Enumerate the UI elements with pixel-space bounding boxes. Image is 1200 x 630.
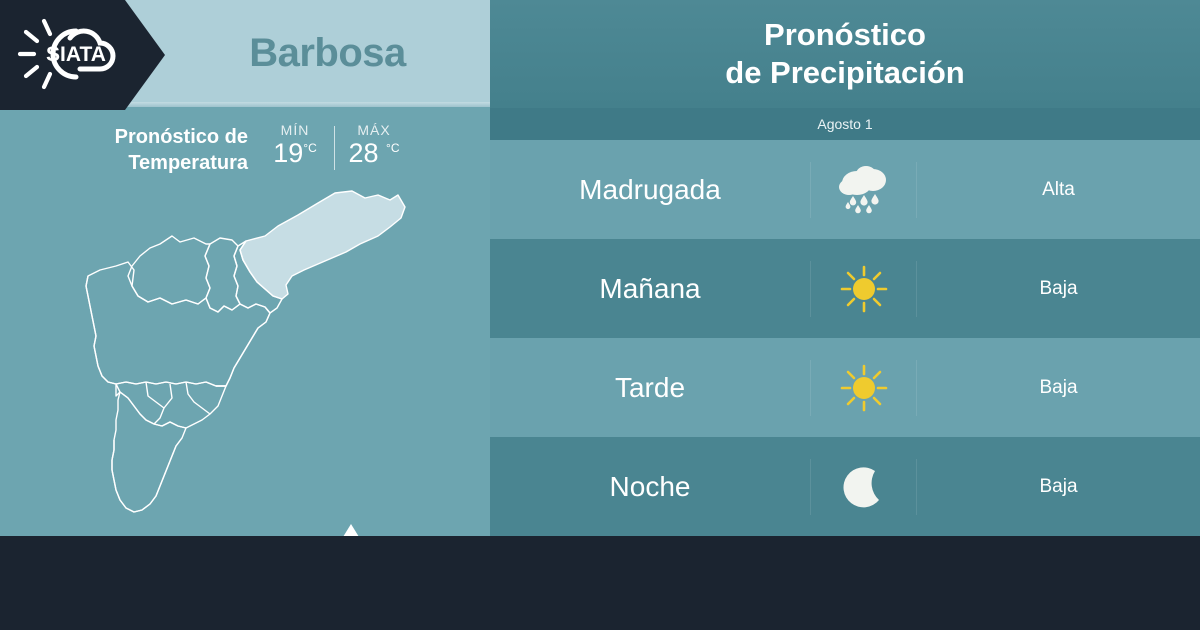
temperature-min-caption: MÍN (281, 122, 310, 138)
map-inner-line-3 (146, 382, 164, 424)
temperature-block: Pronóstico de Temperatura MÍN 19°C MÁX 2… (60, 122, 460, 184)
rain-cloud-icon (833, 162, 895, 218)
sun-cloud-icon: SIATA (14, 14, 138, 94)
row-time-label: Madrugada (490, 174, 810, 206)
map-inner-line-4 (164, 384, 172, 408)
weather-forecast-poster: SIATA Barbosa Pronóstico de Temperatura … (0, 0, 1200, 630)
map-west-boundary (86, 276, 116, 384)
row-weather-icon-cell (810, 459, 917, 515)
row-time-label: Tarde (490, 372, 810, 404)
row-weather-icon-cell (810, 261, 917, 317)
temperature-min: MÍN 19°C (264, 122, 326, 167)
row-weather-icon-cell (810, 162, 917, 218)
row-probability: Alta (917, 179, 1200, 201)
map-region-copacabana (205, 238, 240, 312)
row-time-label: Noche (490, 471, 810, 503)
table-row: Tarde (490, 338, 1200, 437)
table-row: Mañana (490, 239, 1200, 338)
map-region-bello (128, 236, 210, 304)
footer: @siatamedellin www.siata.gov.co Con el a… (0, 536, 1200, 630)
siata-logo-text: SIATA (46, 43, 106, 66)
sun-icon (833, 360, 895, 416)
map-region-barbosa (240, 191, 405, 299)
temperature-label: Pronóstico de Temperatura (60, 122, 248, 176)
precipitation-title-line1: Pronóstico (725, 16, 964, 54)
row-probability: Baja (917, 377, 1200, 399)
map-east-boundary (226, 313, 270, 386)
table-row: Noche Baja (490, 437, 1200, 536)
map-region-caldas (112, 392, 186, 512)
precipitation-title: Pronóstico de Precipitación (725, 16, 964, 92)
temperature-max-value: 28 °C (348, 139, 399, 167)
temperature-values: MÍN 19°C MÁX 28 °C (264, 122, 405, 170)
map-svg (60, 186, 440, 526)
precipitation-header: Pronóstico de Precipitación (490, 0, 1200, 108)
valle-de-aburra-map: N (60, 186, 440, 526)
map-inner-line-5 (186, 382, 210, 414)
row-time-label: Mañana (490, 273, 810, 305)
map-region-medellin (86, 262, 270, 386)
forecast-table: Madrugada (490, 140, 1200, 536)
moon-icon (833, 459, 895, 515)
row-probability: Baja (917, 476, 1200, 498)
temperature-max: MÁX 28 °C (343, 122, 405, 167)
left-panel: SIATA Barbosa Pronóstico de Temperatura … (0, 0, 490, 536)
temperature-label-line1: Pronóstico de (60, 125, 248, 151)
temperature-min-value: 19°C (273, 139, 317, 167)
temperature-max-caption: MÁX (357, 122, 390, 138)
temperature-divider (334, 126, 335, 170)
map-inner-line-1 (112, 438, 182, 512)
city-name: Barbosa (165, 0, 490, 107)
temperature-label-line2: Temperatura (60, 151, 248, 177)
sun-icon (833, 261, 895, 317)
precipitation-title-line2: de Precipitación (725, 54, 964, 92)
table-row: Madrugada (490, 140, 1200, 239)
row-probability: Baja (917, 278, 1200, 300)
forecast-date: Agosto 1 (490, 108, 1200, 140)
row-weather-icon-cell (810, 360, 917, 416)
right-panel: Pronóstico de Precipitación Agosto 1 Mad… (490, 0, 1200, 536)
